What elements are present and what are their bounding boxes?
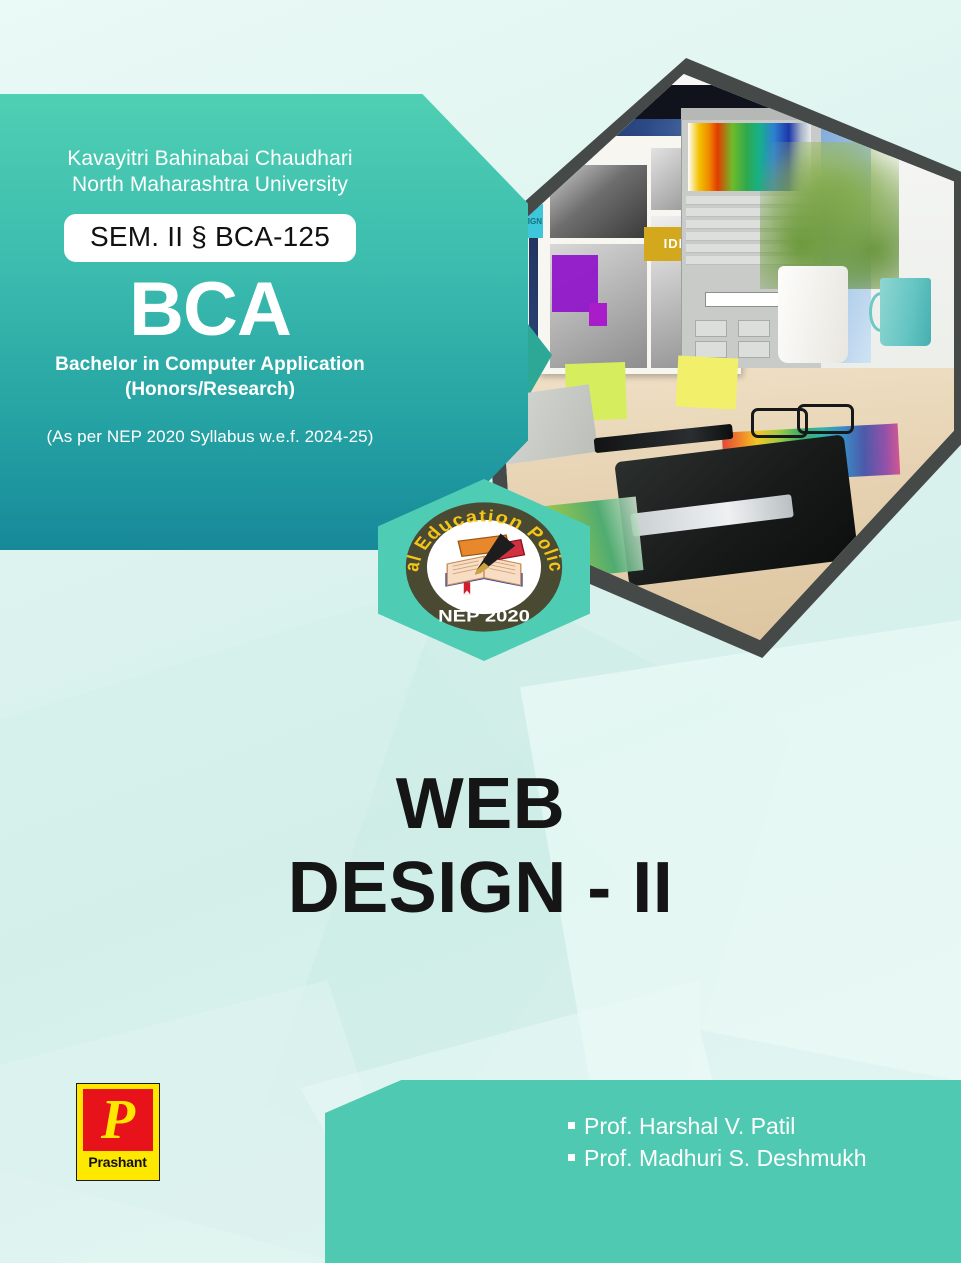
author-name: Prof. Madhuri S. Deshmukh — [584, 1145, 867, 1171]
university-name-line-2: North Maharashtra University — [0, 172, 420, 198]
title-line-2: DESIGN - II — [0, 846, 961, 930]
header-text-block: Kavayitri Bahinabai Chaudhari North Maha… — [0, 94, 420, 447]
degree-subtitle: (Honors/Research) — [0, 377, 420, 403]
photo-magenta-block-4 — [589, 303, 607, 326]
degree-full-name: Bachelor in Computer Application — [0, 352, 420, 377]
title-line-1: WEB — [0, 762, 961, 846]
nep-2020-badge: National Education Policy 2020 — [392, 491, 576, 643]
photo-panel-button — [695, 341, 727, 358]
book-title: WEB DESIGN - II — [0, 762, 961, 930]
degree-abbreviation: BCA — [0, 268, 420, 352]
photo-teal-mug — [880, 278, 931, 346]
publisher-logo-panel: P — [83, 1089, 153, 1151]
photo-panel-button — [738, 320, 770, 337]
author-list: Prof. Harshal V. Patil Prof. Madhuri S. … — [568, 1110, 867, 1174]
publisher-monogram-icon: P — [83, 1085, 153, 1155]
photo-panel-button — [738, 341, 770, 358]
bullet-icon — [568, 1154, 575, 1161]
syllabus-note: (As per NEP 2020 Syllabus w.e.f. 2024-25… — [0, 427, 420, 447]
nep-badge-icon: National Education Policy 2020 — [392, 491, 576, 643]
university-name-line-1: Kavayitri Bahinabai Chaudhari — [0, 146, 420, 172]
publisher-logo: P Prashant — [76, 1083, 160, 1181]
author-name: Prof. Harshal V. Patil — [584, 1113, 795, 1139]
photo-plant-pot — [778, 266, 847, 362]
author-item: Prof. Madhuri S. Deshmukh — [568, 1142, 867, 1174]
photo-eyeglasses-right-lens — [797, 404, 854, 434]
nep-bottom-text: NEP 2020 — [438, 606, 530, 625]
bullet-icon — [568, 1122, 575, 1129]
author-item: Prof. Harshal V. Patil — [568, 1110, 867, 1142]
publisher-name: Prashant — [77, 1154, 158, 1170]
course-code-badge: SEM. II § BCA-125 — [64, 214, 356, 262]
header-panel: Kavayitri Bahinabai Chaudhari North Maha… — [0, 94, 528, 550]
book-cover: IDEAS DESIGN — [0, 0, 961, 1263]
photo-panel-button — [695, 320, 727, 337]
photo-sticky-note-2 — [676, 355, 739, 409]
